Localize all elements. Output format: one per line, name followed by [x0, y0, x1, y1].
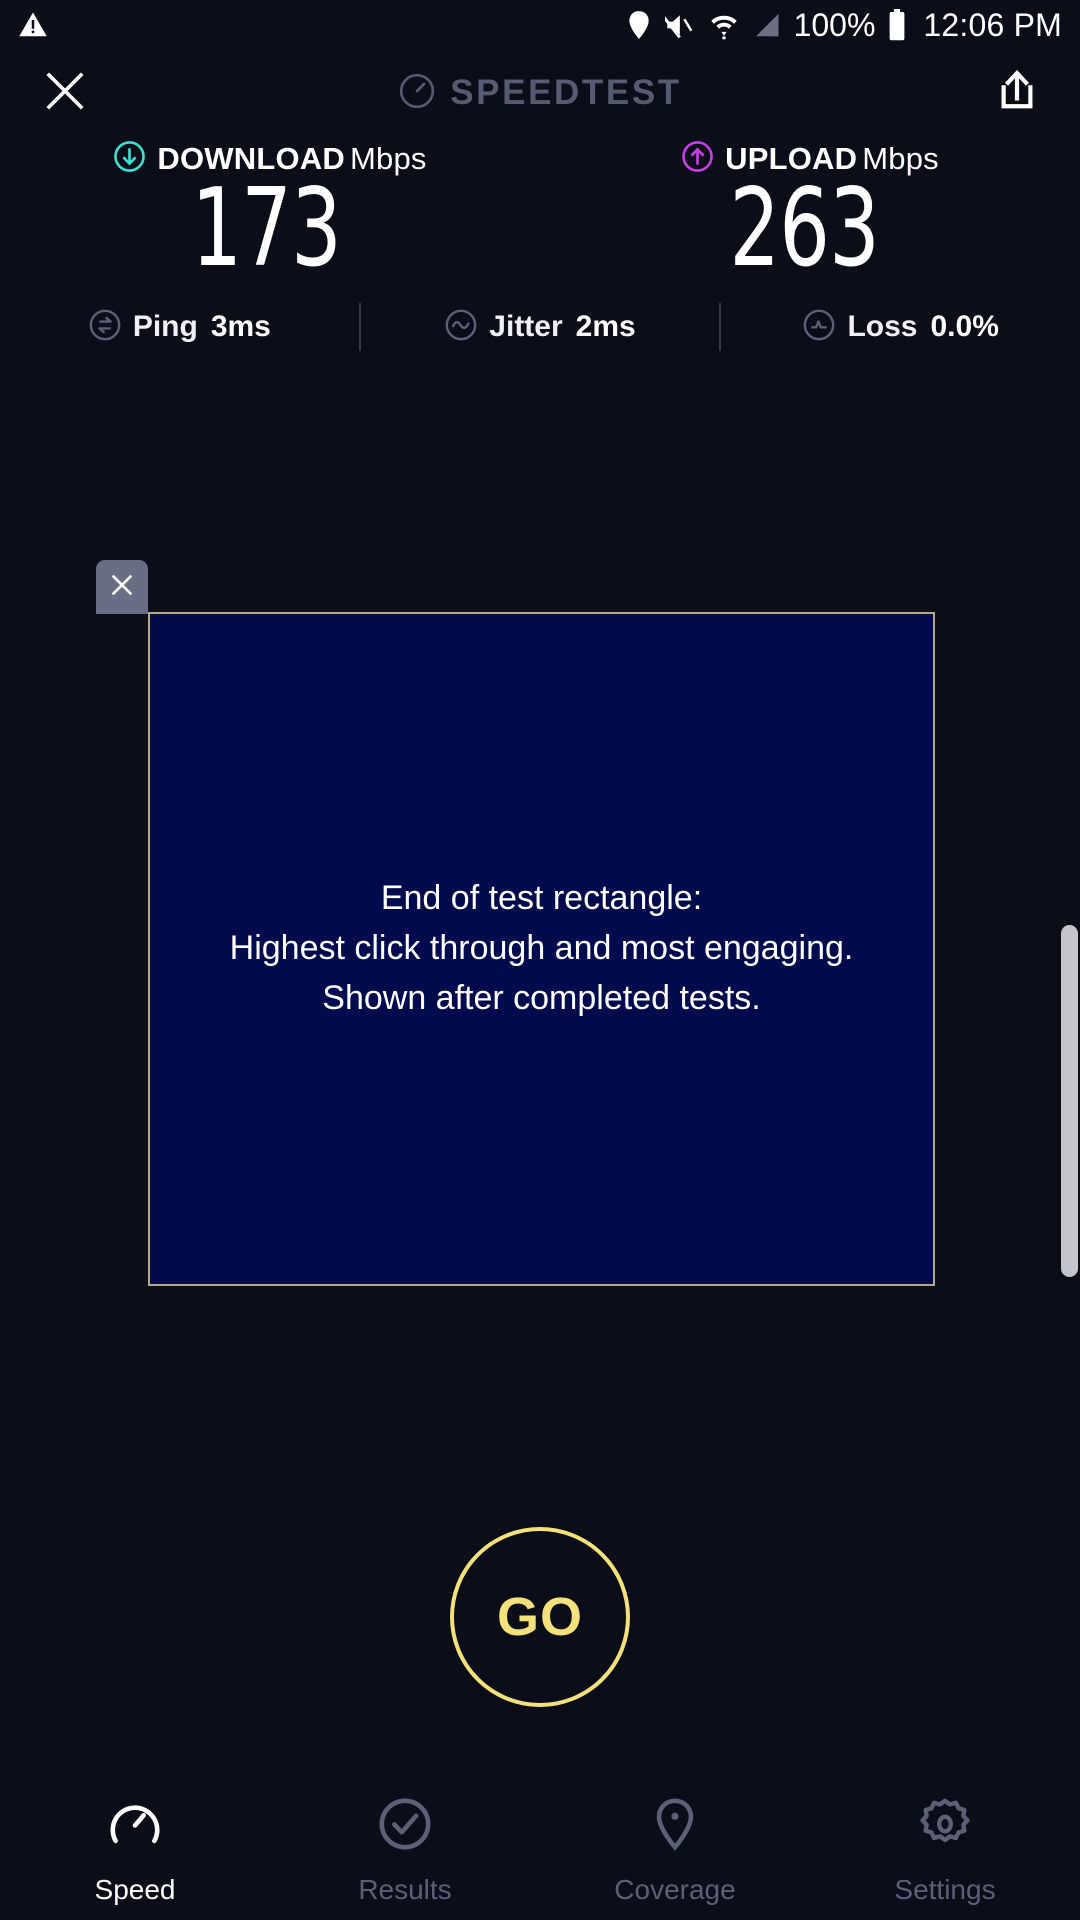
status-bar-right: 100% 12:06 PM [626, 7, 1062, 44]
go-button[interactable]: GO [450, 1527, 630, 1707]
app-title-group: SPEEDTEST [0, 72, 1080, 115]
jitter-label: Jitter [489, 310, 562, 344]
nav-item-coverage[interactable]: Coverage [540, 1795, 810, 1906]
upload-value: 263 [729, 174, 879, 284]
upload-arrow-icon [681, 140, 714, 178]
bottom-navigation: Speed Results Coverage Settings [0, 1780, 1080, 1920]
gear-icon [916, 1795, 974, 1858]
connection-metrics: Ping 3ms Jitter 2ms Loss 0.0% [0, 300, 1080, 354]
page-title: SPEEDTEST [450, 73, 682, 113]
share-icon[interactable] [996, 68, 1038, 119]
jitter-value: 2ms [576, 310, 636, 344]
status-bar: 100% 12:06 PM [0, 0, 1080, 50]
check-circle-icon [376, 1795, 434, 1858]
app-header: SPEEDTEST [0, 58, 1080, 128]
jitter-wave-icon [444, 308, 478, 347]
battery-full-icon [888, 9, 906, 41]
ad-line-3: Shown after completed tests. [230, 974, 854, 1024]
wifi-icon [710, 10, 738, 40]
nav-label-results: Results [358, 1874, 451, 1906]
nav-label-coverage: Coverage [614, 1874, 735, 1906]
nav-label-speed: Speed [95, 1874, 176, 1906]
ping-label: Ping [133, 310, 198, 344]
ad-creative[interactable]: End of test rectangle: Highest click thr… [148, 612, 935, 1286]
download-arrow-icon [113, 140, 146, 178]
speedometer-icon [106, 1795, 164, 1858]
speed-results: DOWNLOADMbps 173 UPLOADMbps 263 [0, 140, 1080, 284]
download-result: DOWNLOADMbps 173 [0, 140, 540, 284]
ping-value: 3ms [211, 310, 271, 344]
nav-item-settings[interactable]: Settings [810, 1795, 1080, 1906]
loss-value: 0.0% [931, 310, 999, 344]
loss-icon [802, 308, 836, 347]
close-icon [108, 571, 136, 604]
loss-label: Loss [847, 310, 917, 344]
upload-result: UPLOADMbps 263 [540, 140, 1080, 284]
metric-ping: Ping 3ms [0, 308, 359, 347]
status-bar-clock: 12:06 PM [923, 7, 1062, 44]
battery-percent-label: 100% [794, 7, 876, 44]
go-button-label: GO [497, 1586, 583, 1648]
vertical-scrollbar[interactable] [1061, 925, 1078, 1277]
metric-jitter: Jitter 2ms [361, 308, 720, 347]
warning-triangle-icon [18, 10, 48, 40]
ad-text: End of test rectangle: Highest click thr… [230, 874, 854, 1024]
ad-line-2: Highest click through and most engaging. [230, 924, 854, 974]
nav-item-speed[interactable]: Speed [0, 1795, 270, 1906]
cellular-signal-icon [751, 10, 781, 40]
ad-close-button[interactable] [96, 560, 148, 614]
status-bar-left [18, 10, 48, 40]
nav-label-settings: Settings [894, 1874, 995, 1906]
speedtest-gauge-icon [398, 72, 436, 115]
location-pin-icon [626, 10, 652, 40]
download-value: 173 [191, 174, 341, 284]
nav-item-results[interactable]: Results [270, 1795, 540, 1906]
ad-line-1: End of test rectangle: [230, 874, 854, 924]
ping-exchange-icon [88, 308, 122, 347]
location-pin-icon [646, 1795, 704, 1858]
close-icon[interactable] [42, 68, 88, 119]
volume-mute-icon [665, 10, 697, 40]
metric-loss: Loss 0.0% [721, 308, 1080, 347]
